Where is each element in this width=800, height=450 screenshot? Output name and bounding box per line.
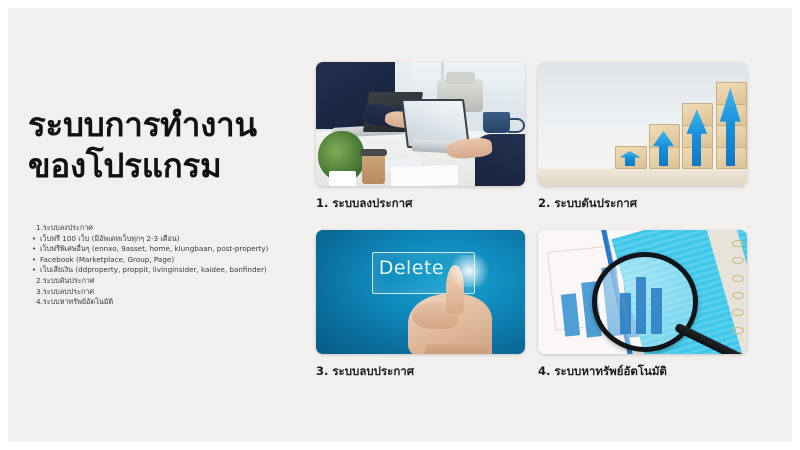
bullet-dot-icon: • — [32, 234, 40, 245]
up-arrow-icon — [720, 89, 741, 166]
list-item-label: เว็บฟรีพิเศษอื่นๆ (ennxo, 9asset, home, … — [40, 244, 316, 255]
office-desk-laptops-photo — [316, 62, 525, 186]
list-item: • เว็บฟรีพิเศษอื่นๆ (ennxo, 9asset, home… — [26, 244, 316, 255]
card-caption: 1. ระบบลงประกาศ — [316, 195, 525, 213]
card-3: Delete 3. ระบบลบประกาศ — [316, 230, 525, 381]
title-line-1: ระบบการทำงาน — [28, 105, 257, 144]
list-item-1: 1.ระบบลงประกาศ — [26, 223, 316, 234]
slide-canvas: ระบบการทำงาน ของโปรแกรม 1.ระบบลงประกาศ •… — [8, 8, 792, 442]
bullet-dot-icon: • — [32, 255, 40, 266]
bullet-dot-icon: • — [32, 265, 40, 276]
list-item: • Facebook (Marketplace, Group, Page) — [26, 255, 316, 266]
image-grid: 1. ระบบลงประกาศ — [316, 62, 756, 392]
card-caption: 4. ระบบหาทรัพย์อัตโนมัติ — [538, 363, 747, 381]
wooden-blocks-growth-arrows-photo — [538, 62, 747, 186]
up-arrow-icon — [686, 110, 707, 166]
bullet-dot-icon: • — [32, 244, 40, 255]
title-line-2: ของโปรแกรม — [28, 145, 314, 186]
list-item: • เว็บเสียเงิน (ddproperty, proppit, liv… — [26, 265, 316, 276]
list-item-3: 3.ระบบลบประกาศ — [26, 287, 316, 298]
card-4: 4. ระบบหาทรัพย์อัตโนมัติ — [538, 230, 747, 381]
card-caption: 2. ระบบดันประกาศ — [538, 195, 747, 213]
up-arrow-icon — [620, 151, 641, 166]
magnifying-glass-chart-photo — [538, 230, 747, 354]
list-item: • เว็บฟรี 100 เว็บ (มีอัพเดทเว็บทุกๆ 2-3… — [26, 234, 316, 245]
list-item-2: 2.ระบบดันประกาศ — [26, 276, 316, 287]
up-arrow-icon — [653, 131, 674, 166]
page-title: ระบบการทำงาน ของโปรแกรม — [28, 104, 314, 186]
bullet-list: 1.ระบบลงประกาศ • เว็บฟรี 100 เว็บ (มีอัพ… — [26, 223, 316, 308]
magnifying-glass-icon — [592, 252, 698, 351]
card-1: 1. ระบบลงประกาศ — [316, 62, 525, 213]
list-item-label: เว็บฟรี 100 เว็บ (มีอัพเดทเว็บทุกๆ 2-3 เ… — [40, 234, 316, 245]
card-2: 2. ระบบดันประกาศ — [538, 62, 747, 213]
list-item-label: Facebook (Marketplace, Group, Page) — [40, 255, 316, 266]
delete-button-press-photo: Delete — [316, 230, 525, 354]
card-caption: 3. ระบบลบประกาศ — [316, 363, 525, 381]
list-item-label: เว็บเสียเงิน (ddproperty, proppit, livin… — [40, 265, 316, 276]
list-item-4: 4.ระบบหาทรัพย์อัตโนมัติ — [26, 297, 316, 308]
